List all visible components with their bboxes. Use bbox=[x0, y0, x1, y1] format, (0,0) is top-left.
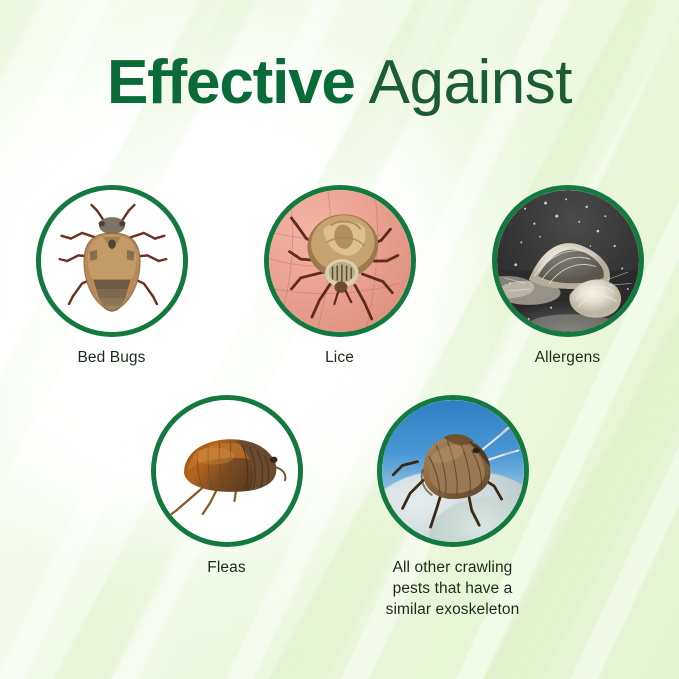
pest-image-circle-other-pests bbox=[377, 395, 529, 547]
stink-bug-photo bbox=[382, 400, 524, 542]
pest-label-fleas: Fleas bbox=[207, 558, 245, 578]
pest-image-circle-lice bbox=[264, 185, 416, 337]
bed-bug-photo bbox=[41, 190, 183, 332]
pest-label-bed-bugs: Bed Bugs bbox=[77, 348, 145, 368]
pest-row-top: Bed Bugs bbox=[0, 185, 679, 368]
pest-label-line-2: pests that have a bbox=[353, 578, 553, 599]
dust-lint-photo bbox=[497, 190, 639, 332]
pest-image-circle-fleas bbox=[151, 395, 303, 547]
tick-on-skin-photo bbox=[269, 190, 411, 332]
pest-image-circle-allergens bbox=[492, 185, 644, 337]
pest-label-line-1: All other crawling bbox=[353, 557, 553, 578]
pest-row-bottom: Fleas bbox=[0, 395, 679, 620]
pest-item-allergens[interactable]: Allergens bbox=[479, 185, 657, 368]
pest-item-other-crawling-pests[interactable]: All other crawling pests that have a sim… bbox=[364, 395, 542, 620]
bed-bug-illustration bbox=[41, 190, 183, 332]
pest-label-lice: Lice bbox=[325, 348, 354, 368]
flea-illustration bbox=[156, 400, 298, 542]
pest-item-bed-bugs[interactable]: Bed Bugs bbox=[23, 185, 201, 368]
pest-label-line-3: similar exoskeleton bbox=[353, 599, 553, 620]
pest-item-lice[interactable]: Lice bbox=[251, 185, 429, 368]
flea-photo bbox=[156, 400, 298, 542]
pest-image-circle-bed-bugs bbox=[36, 185, 188, 337]
title-bold-word: Effective bbox=[107, 48, 355, 117]
tick-illustration bbox=[269, 190, 411, 332]
pest-label-allergens: Allergens bbox=[535, 348, 601, 368]
pest-item-fleas[interactable]: Fleas bbox=[138, 395, 316, 620]
stink-bug-illustration bbox=[382, 400, 524, 542]
pest-label-other-crawling-pests: All other crawling pests that have a sim… bbox=[353, 557, 553, 620]
title-light-word: Against bbox=[369, 48, 572, 117]
dust-allergen-illustration bbox=[497, 190, 639, 332]
page-title: EffectiveAgainst bbox=[0, 52, 679, 114]
effective-against-poster: EffectiveAgainst bbox=[0, 0, 679, 679]
